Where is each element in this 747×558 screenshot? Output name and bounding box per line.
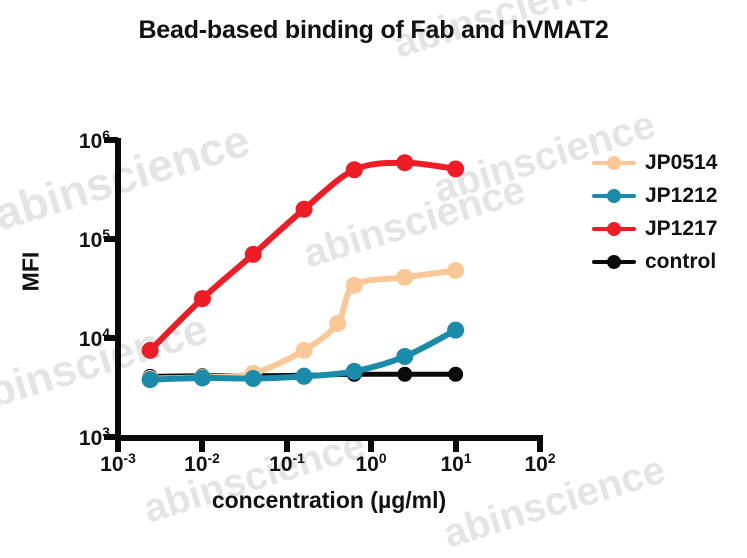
data-point <box>296 342 313 359</box>
legend-marker-jp0514 <box>592 156 636 170</box>
data-point <box>346 363 363 380</box>
series-line <box>150 163 456 351</box>
legend-label: JP1217 <box>645 217 717 241</box>
data-point <box>447 262 464 279</box>
series-jp1217 <box>142 154 465 359</box>
data-point <box>346 277 363 294</box>
data-point <box>448 367 463 382</box>
data-point <box>142 371 159 388</box>
data-point <box>194 369 211 386</box>
legend-item-jp1212[interactable]: JP1212 <box>592 179 742 212</box>
legend-label: control <box>645 250 716 274</box>
data-point <box>329 315 346 332</box>
data-point <box>447 322 464 339</box>
legend-label: JP1212 <box>645 184 717 208</box>
data-point <box>447 160 464 177</box>
legend-marker-control <box>592 255 636 269</box>
data-point <box>396 348 413 365</box>
figure-root: abinscience abinscience abinscience abin… <box>0 0 747 549</box>
data-point <box>245 246 262 263</box>
axis-lines <box>104 138 543 452</box>
legend-marker-jp1212 <box>592 189 636 203</box>
legend-marker-jp1217 <box>592 222 636 236</box>
legend-item-jp0514[interactable]: JP0514 <box>592 146 742 179</box>
data-series-layer <box>142 154 465 388</box>
legend-item-jp1217[interactable]: JP1217 <box>592 212 742 245</box>
data-point <box>296 368 313 385</box>
legend-item-control[interactable]: control <box>592 245 742 278</box>
data-point <box>142 342 159 359</box>
data-point <box>296 201 313 218</box>
data-point <box>396 269 413 286</box>
legend: JP0514 JP1212 JP1217 control <box>592 146 742 278</box>
legend-label: JP0514 <box>645 151 717 175</box>
data-point <box>245 370 262 387</box>
data-point <box>194 290 211 307</box>
data-point <box>396 154 413 171</box>
data-point <box>346 161 363 178</box>
data-point <box>397 367 412 382</box>
